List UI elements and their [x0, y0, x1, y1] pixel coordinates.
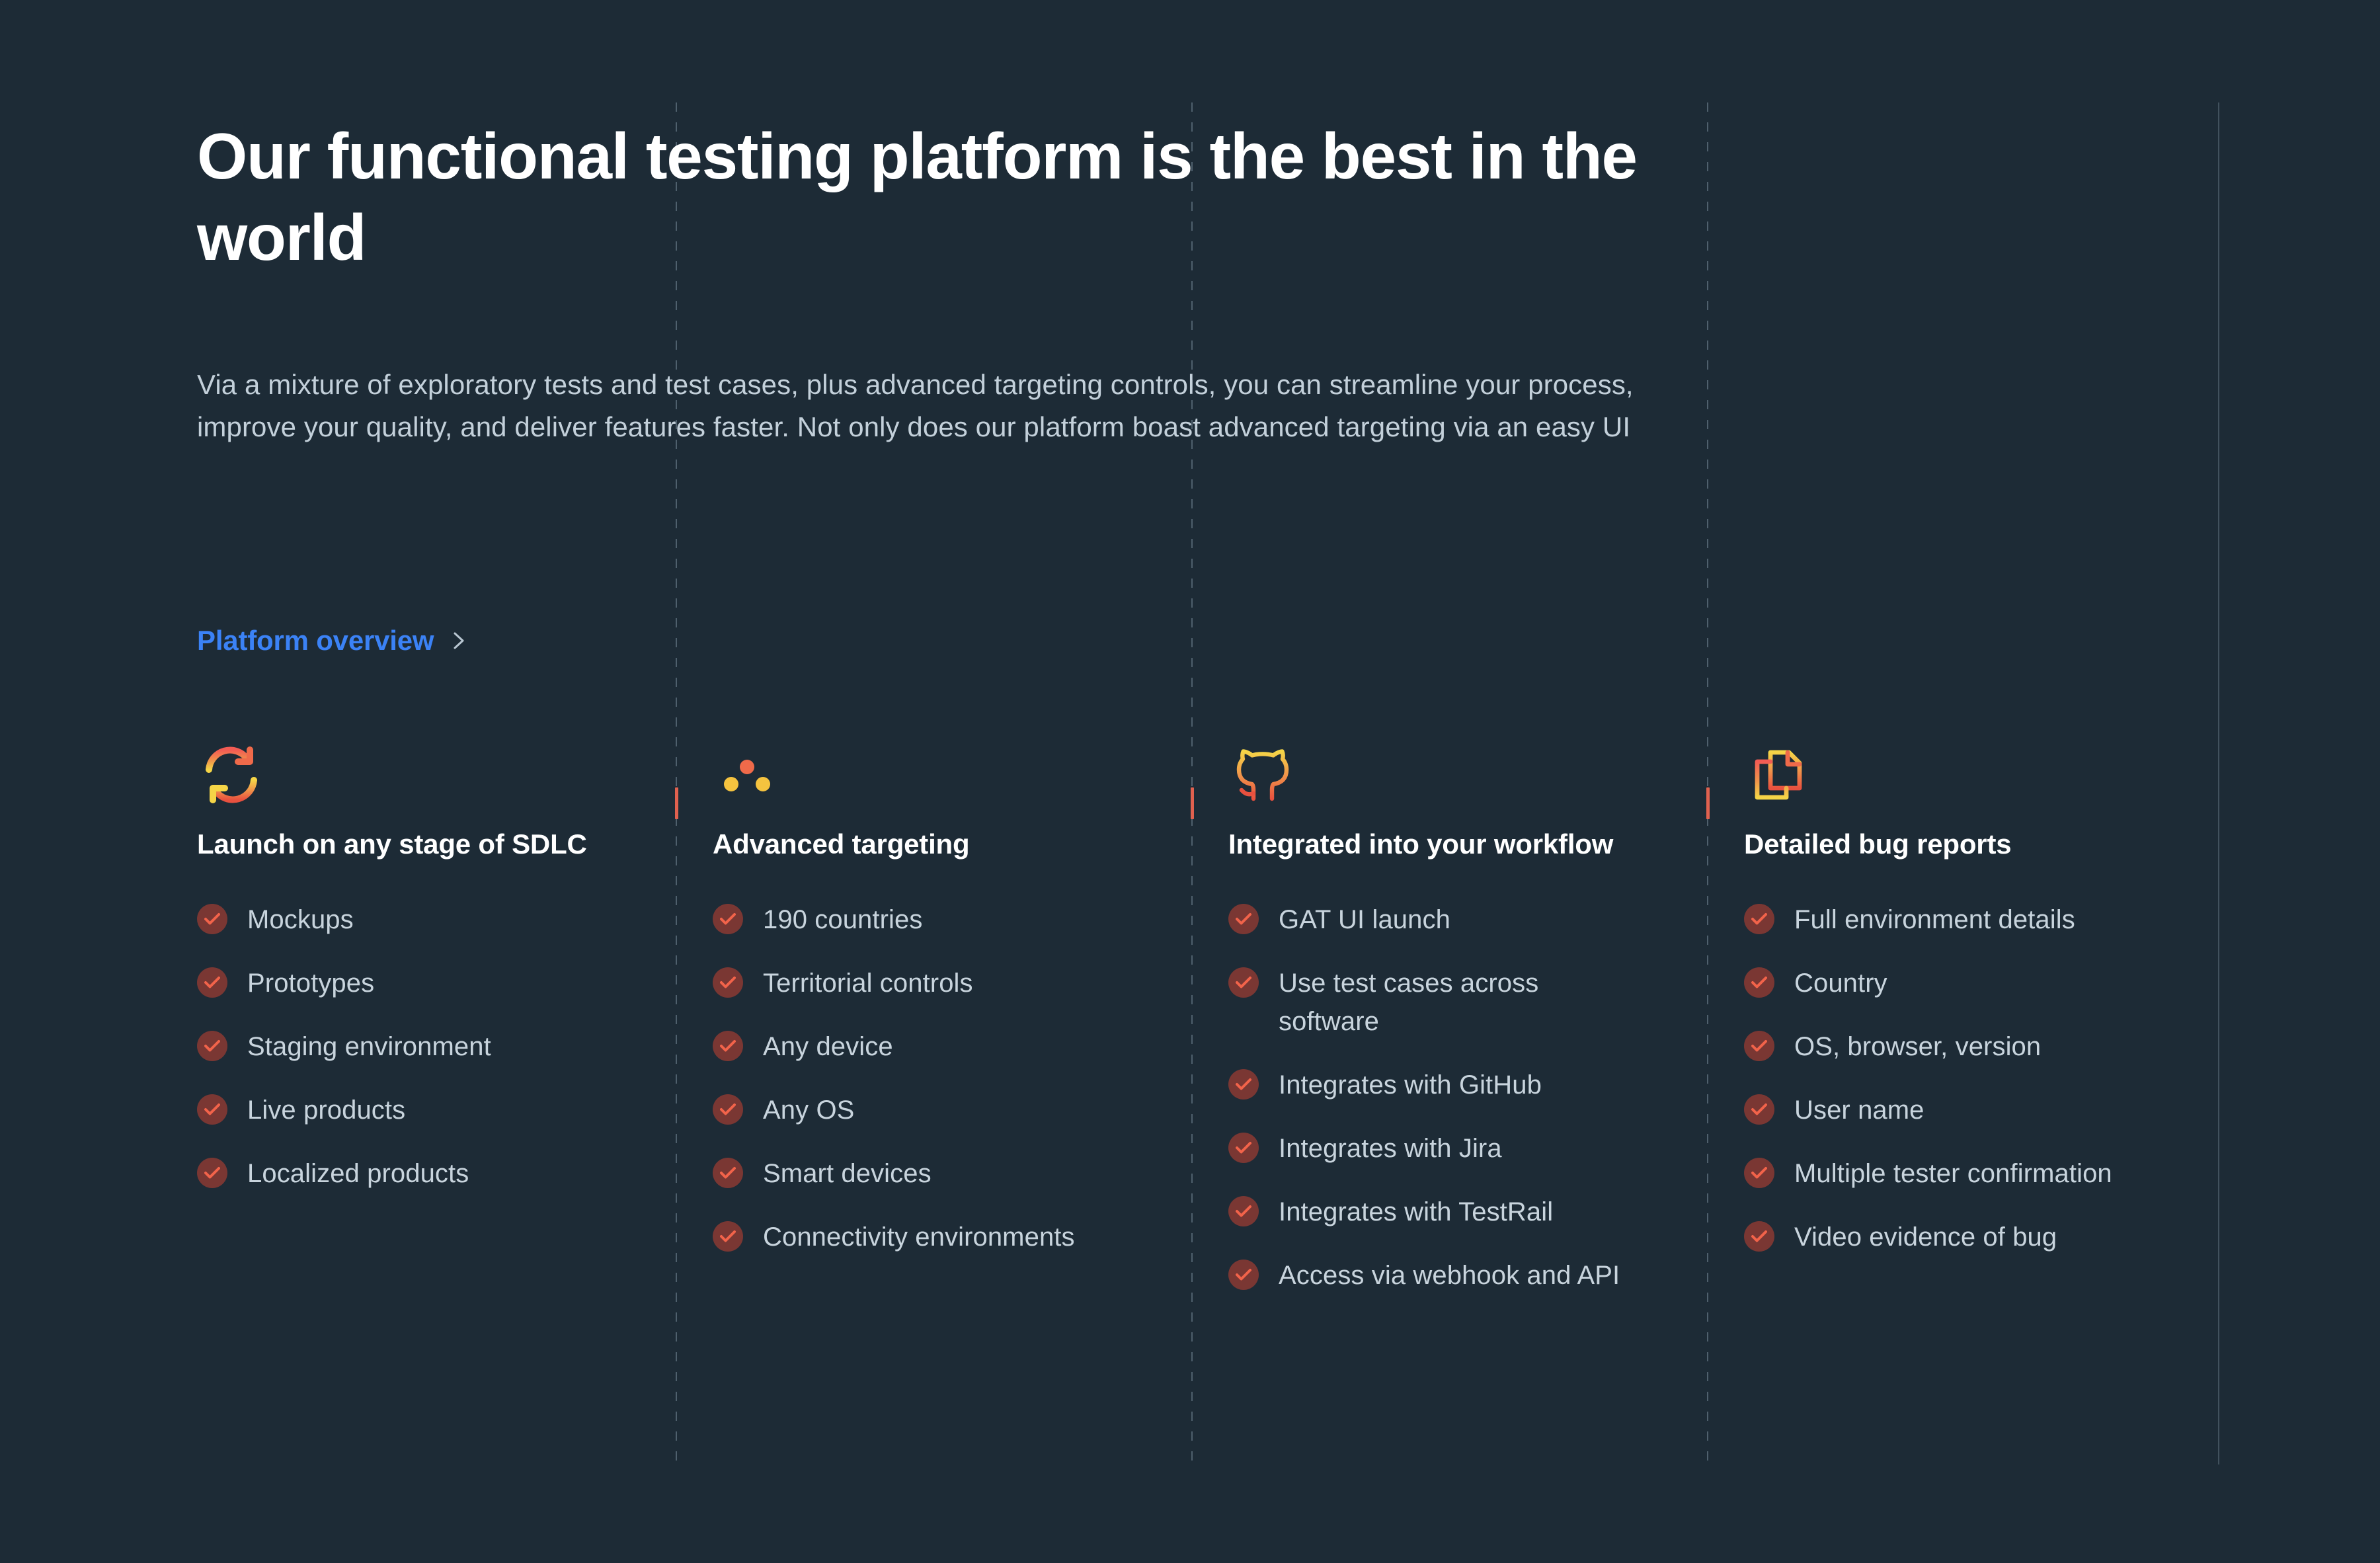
- check-circle-icon: [1228, 904, 1259, 934]
- feature-column-integrated-into-your-workflow: Integrated into your workflow GAT UI lau…: [1228, 741, 1638, 1295]
- list-item: Use test cases across software: [1228, 964, 1638, 1041]
- feature-columns: Launch on any stage of SDLC Mockups Prot…: [0, 741, 2380, 1468]
- column-title: Detailed bug reports: [1744, 828, 2194, 861]
- check-circle-icon: [1228, 1133, 1259, 1163]
- list-item-label: Staging environment: [247, 1027, 491, 1066]
- check-circle-icon: [197, 1031, 227, 1061]
- list-item-label: Integrates with GitHub: [1279, 1066, 1542, 1104]
- list-item-label: 190 countries: [763, 901, 922, 939]
- list-item-label: Smart devices: [763, 1154, 932, 1193]
- list-item-label: Connectivity environments: [763, 1218, 1075, 1256]
- sliders-icon: [713, 741, 781, 809]
- page-root: Our functional testing platform is the b…: [0, 0, 2380, 1563]
- column-title: Launch on any stage of SDLC: [197, 828, 660, 861]
- list-item: Territorial controls: [713, 964, 1175, 1002]
- list-item-label: Localized products: [247, 1154, 469, 1193]
- check-circle-icon: [1744, 1158, 1774, 1188]
- list-item-label: Integrates with TestRail: [1279, 1193, 1553, 1231]
- check-circle-icon: [1744, 1221, 1774, 1252]
- platform-overview-link[interactable]: Platform overview: [197, 625, 468, 657]
- check-circle-icon: [713, 904, 743, 934]
- check-circle-icon: [1228, 1196, 1259, 1226]
- list-item-label: Territorial controls: [763, 964, 973, 1002]
- list-item: Full environment details: [1744, 901, 2194, 939]
- check-circle-icon: [1744, 967, 1774, 998]
- chevron-right-icon: [451, 631, 468, 651]
- check-circle-icon: [197, 1158, 227, 1188]
- list-item: Integrates with Jira: [1228, 1129, 1638, 1168]
- feature-list: Mockups Prototypes Staging environment: [197, 901, 660, 1193]
- list-item-label: Multiple tester confirmation: [1794, 1154, 2112, 1193]
- list-item: GAT UI launch: [1228, 901, 1638, 939]
- github-icon: [1228, 741, 1297, 809]
- check-circle-icon: [713, 1031, 743, 1061]
- feature-column-advanced-targeting: Advanced targeting 190 countries Territo…: [713, 741, 1175, 1256]
- check-circle-icon: [1744, 1094, 1774, 1125]
- column-title: Integrated into your workflow: [1228, 828, 1638, 861]
- feature-list: GAT UI launch Use test cases across soft…: [1228, 901, 1638, 1295]
- list-item-label: Prototypes: [247, 964, 374, 1002]
- list-item: Mockups: [197, 901, 660, 939]
- list-item: Connectivity environments: [713, 1218, 1175, 1256]
- hero-paragraph: Via a mixture of exploratory tests and t…: [197, 364, 1685, 448]
- list-item-label: Any device: [763, 1027, 893, 1066]
- check-circle-icon: [713, 967, 743, 998]
- check-circle-icon: [197, 904, 227, 934]
- list-item-label: Integrates with Jira: [1279, 1129, 1502, 1168]
- list-item-label: Video evidence of bug: [1794, 1218, 2057, 1256]
- column-title: Advanced targeting: [713, 828, 1175, 861]
- list-item: Video evidence of bug: [1744, 1218, 2194, 1256]
- feature-list: Full environment details Country OS, bro…: [1744, 901, 2194, 1256]
- list-item: Integrates with TestRail: [1228, 1193, 1638, 1231]
- check-circle-icon: [713, 1221, 743, 1252]
- refresh-cycle-icon: [197, 741, 266, 809]
- check-circle-icon: [1744, 1031, 1774, 1061]
- check-circle-icon: [1744, 904, 1774, 934]
- feature-column-detailed-bug-reports: Detailed bug reports Full environment de…: [1744, 741, 2194, 1256]
- list-item-label: Access via webhook and API: [1279, 1256, 1620, 1295]
- check-circle-icon: [197, 967, 227, 998]
- list-item: Any device: [713, 1027, 1175, 1066]
- list-item: Localized products: [197, 1154, 660, 1193]
- list-item-label: Mockups: [247, 901, 354, 939]
- list-item-label: Full environment details: [1794, 901, 2075, 939]
- platform-overview-label: Platform overview: [197, 625, 434, 657]
- list-item: Staging environment: [197, 1027, 660, 1066]
- list-item: OS, browser, version: [1744, 1027, 2194, 1066]
- list-item: Any OS: [713, 1091, 1175, 1129]
- list-item: Country: [1744, 964, 2194, 1002]
- check-circle-icon: [713, 1094, 743, 1125]
- list-item: Live products: [197, 1091, 660, 1129]
- list-item-label: Use test cases across software: [1279, 964, 1636, 1041]
- check-circle-icon: [1228, 967, 1259, 998]
- list-item-label: Any OS: [763, 1091, 854, 1129]
- list-item: Integrates with GitHub: [1228, 1066, 1638, 1104]
- list-item: Multiple tester confirmation: [1744, 1154, 2194, 1193]
- feature-column-launch-on-any-stage-of-sdlc: Launch on any stage of SDLC Mockups Prot…: [197, 741, 660, 1193]
- check-circle-icon: [197, 1094, 227, 1125]
- list-item-label: OS, browser, version: [1794, 1027, 2041, 1066]
- list-item: Prototypes: [197, 964, 660, 1002]
- list-item: Smart devices: [713, 1154, 1175, 1193]
- check-circle-icon: [1228, 1069, 1259, 1100]
- list-item: 190 countries: [713, 901, 1175, 939]
- list-item-label: Country: [1794, 964, 1887, 1002]
- list-item-label: User name: [1794, 1091, 1924, 1129]
- check-circle-icon: [1228, 1260, 1259, 1290]
- page-title: Our functional testing platform is the b…: [197, 116, 1678, 279]
- list-item: Access via webhook and API: [1228, 1256, 1638, 1295]
- copy-documents-icon: [1744, 741, 1813, 809]
- hero-section: Our functional testing platform is the b…: [197, 116, 1691, 448]
- list-item: User name: [1744, 1091, 2194, 1129]
- list-item-label: Live products: [247, 1091, 405, 1129]
- check-circle-icon: [713, 1158, 743, 1188]
- feature-list: 190 countries Territorial controls Any d…: [713, 901, 1175, 1256]
- list-item-label: GAT UI launch: [1279, 901, 1450, 939]
